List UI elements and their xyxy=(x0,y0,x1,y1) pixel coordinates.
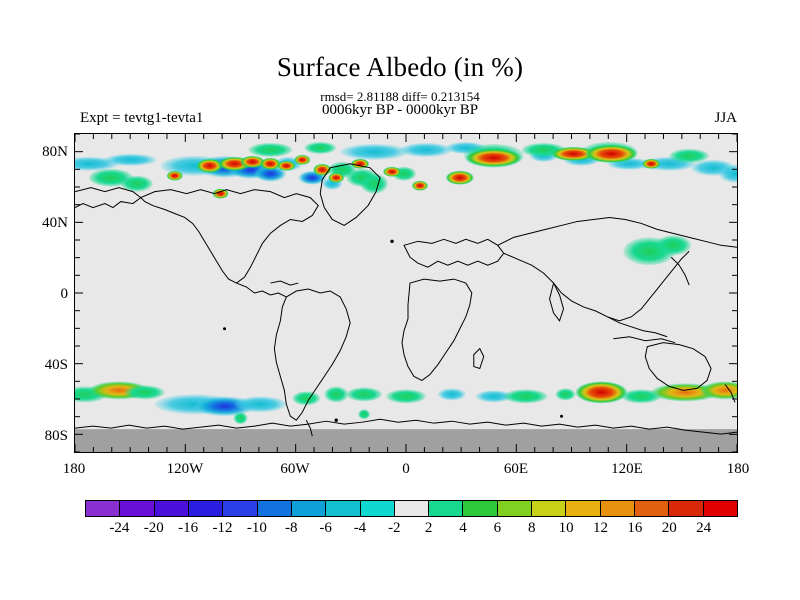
colorbar-swatch xyxy=(361,501,395,516)
x-tick-60e: 60E xyxy=(481,461,551,478)
colorbar xyxy=(85,500,738,517)
world-map xyxy=(75,134,737,452)
colorbar-swatch xyxy=(429,501,463,516)
colorbar-tick: 24 xyxy=(682,520,726,537)
map-plot-area xyxy=(74,133,738,453)
colorbar-swatch xyxy=(532,501,566,516)
experiment-label: Expt = tevtg1-tevta1 xyxy=(80,110,203,127)
colorbar-swatch xyxy=(601,501,635,516)
colorbar-swatch xyxy=(704,501,737,516)
colorbar-swatch xyxy=(258,501,292,516)
figure-canvas: Surface Albedo (in %) rmsd= 2.81188 diff… xyxy=(0,0,800,600)
season-label: JJA xyxy=(714,110,737,127)
y-tick-40s: 40S xyxy=(4,357,68,374)
x-tick-120e: 120E xyxy=(592,461,662,478)
colorbar-swatch xyxy=(86,501,120,516)
colorbar-swatch xyxy=(498,501,532,516)
colorbar-swatch xyxy=(120,501,154,516)
colorbar-swatch xyxy=(326,501,360,516)
colorbar-swatch xyxy=(669,501,703,516)
x-tick-60w: 60W xyxy=(260,461,330,478)
colorbar-swatch xyxy=(189,501,223,516)
colorbar-swatch xyxy=(223,501,257,516)
colorbar-swatch xyxy=(463,501,497,516)
y-tick-80n: 80N xyxy=(4,144,68,161)
x-tick-0: 0 xyxy=(371,461,441,478)
colorbar-swatch xyxy=(292,501,326,516)
x-tick-120w: 120W xyxy=(150,461,220,478)
colorbar-swatch xyxy=(635,501,669,516)
colorbar-swatch xyxy=(566,501,600,516)
colorbar-swatch xyxy=(155,501,189,516)
colorbar-swatch xyxy=(395,501,429,516)
y-tick-40n: 40N xyxy=(4,215,68,232)
page-title: Surface Albedo (in %) xyxy=(0,52,800,83)
y-tick-80s: 80S xyxy=(4,428,68,445)
y-tick-0: 0 xyxy=(4,286,68,303)
x-tick-180e: 180 xyxy=(703,461,773,478)
x-tick-180w: 180 xyxy=(39,461,109,478)
